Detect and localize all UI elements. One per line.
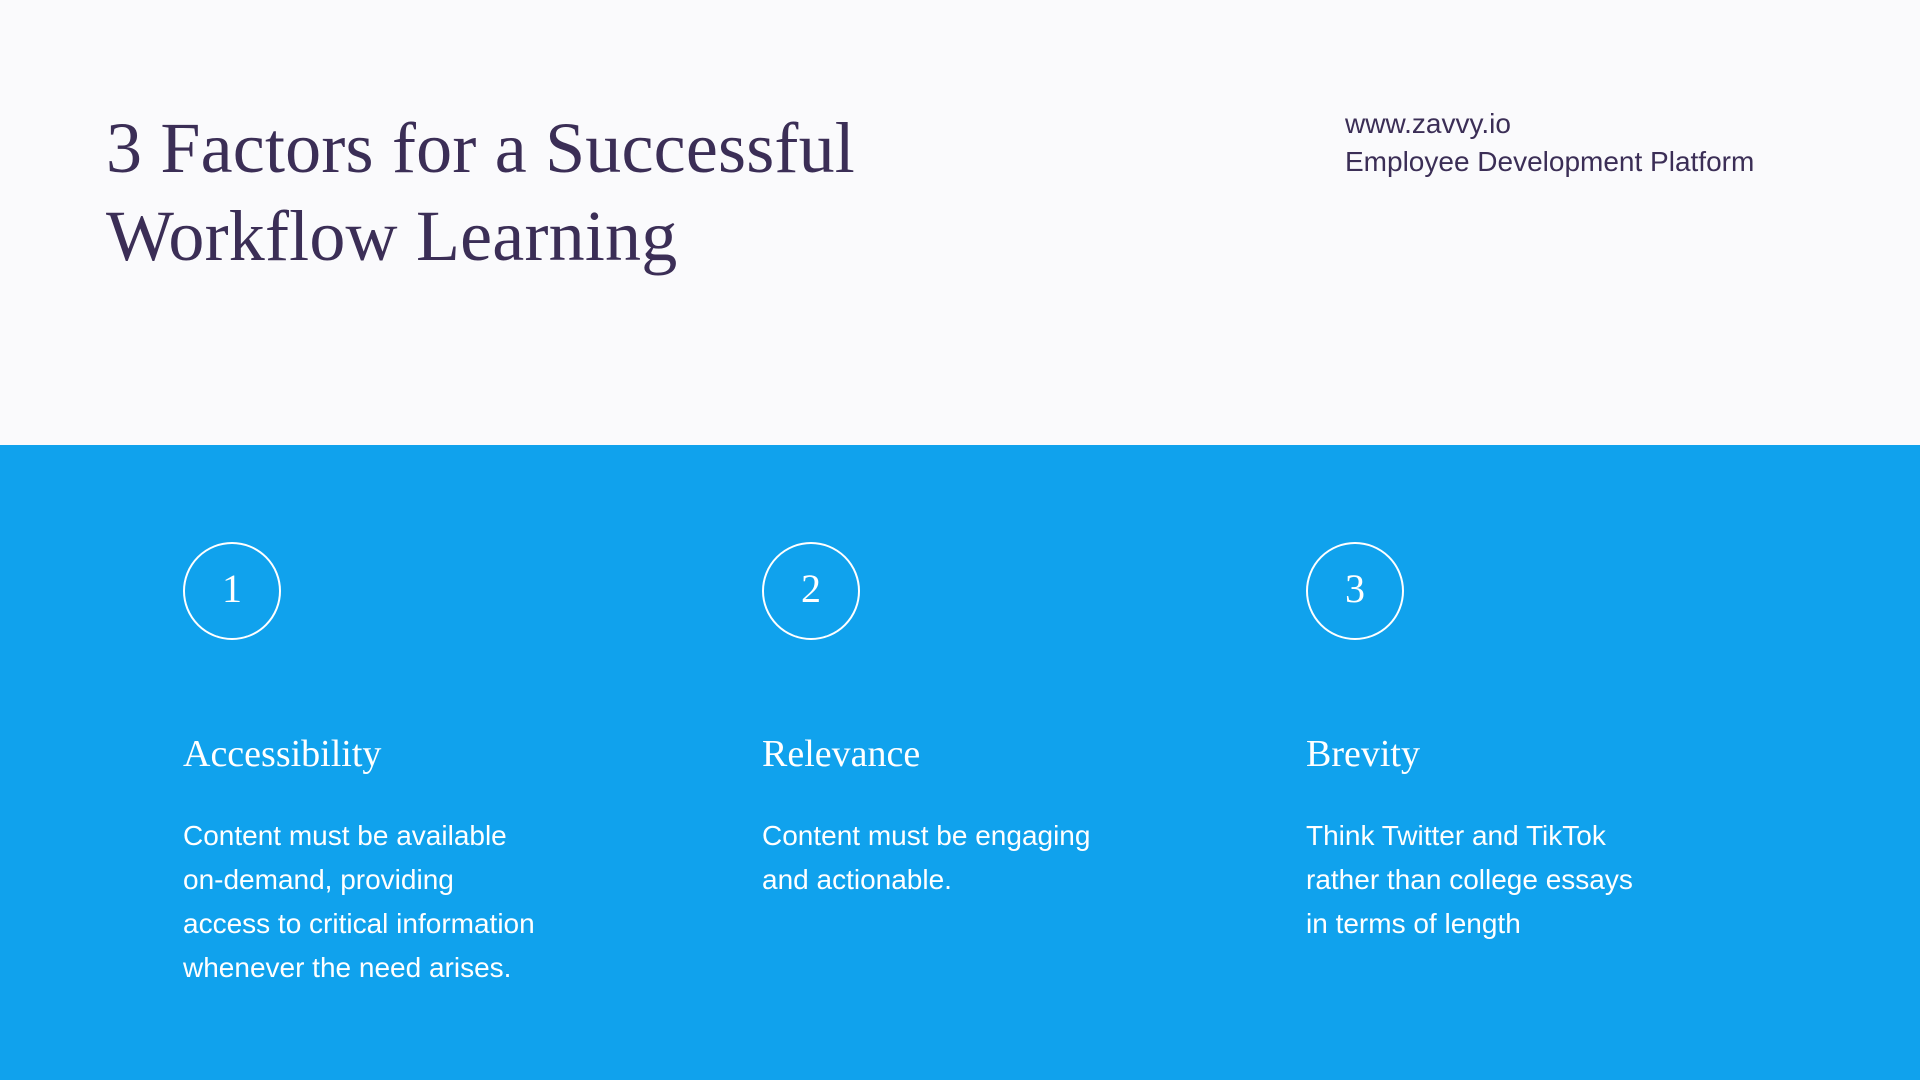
factor-heading-accessibility: Accessibility [183,732,381,776]
factors-list: 1 Accessibility Content must be availabl… [0,445,1920,1080]
step-number-label: 1 [222,569,242,609]
page-title: 3 Factors for a Successful Workflow Lear… [106,104,1086,280]
step-number-circle-3: 3 [1306,542,1404,640]
slide-canvas: 3 Factors for a Successful Workflow Lear… [0,0,1920,1080]
factor-heading-relevance: Relevance [762,732,920,776]
factor-column-2: 2 Relevance Content must be engaging and… [762,542,1232,640]
brand-block: www.zavvy.io Employee Development Platfo… [1345,105,1865,181]
slide-body-section: 1 Accessibility Content must be availabl… [0,445,1920,1080]
brand-tagline: Employee Development Platform [1345,143,1865,181]
factor-body-brevity: Think Twitter and TikTok rather than col… [1306,814,1758,946]
slide-header-section: 3 Factors for a Successful Workflow Lear… [0,0,1920,445]
factor-column-3: 3 Brevity Think Twitter and TikTok rathe… [1306,542,1776,640]
factor-column-1: 1 Accessibility Content must be availabl… [183,542,653,640]
brand-website: www.zavvy.io [1345,105,1865,143]
step-number-label: 2 [801,569,821,609]
step-number-circle-1: 1 [183,542,281,640]
factor-body-relevance: Content must be engaging and actionable. [762,814,1214,902]
step-number-label: 3 [1345,569,1365,609]
factor-heading-brevity: Brevity [1306,732,1420,776]
step-number-circle-2: 2 [762,542,860,640]
factor-body-accessibility: Content must be available on-demand, pro… [183,814,635,990]
